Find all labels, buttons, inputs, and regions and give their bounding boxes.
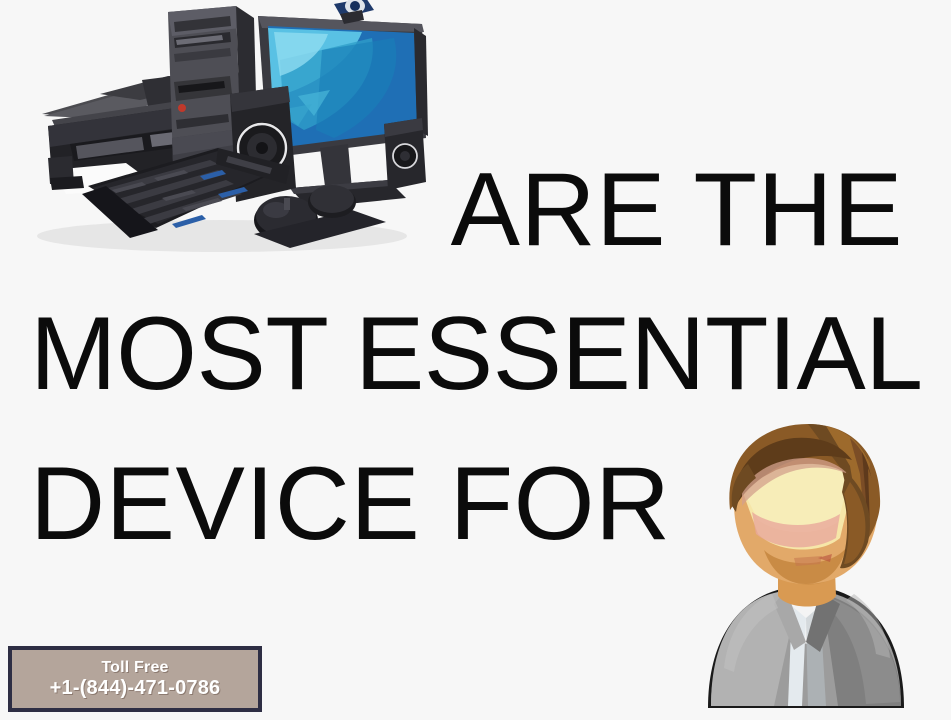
promo-slide: ARE THE MOST ESSENTIAL DEVICE FOR	[0, 0, 951, 720]
user-avatar-image	[690, 418, 922, 712]
toll-free-banner[interactable]: Toll Free +1-(844)-471-0786	[8, 646, 262, 712]
headline-line-1: ARE THE	[0, 158, 903, 262]
toll-free-label: Toll Free	[101, 659, 168, 677]
headline-line-2: MOST ESSENTIAL	[30, 302, 923, 406]
toll-free-phone-number[interactable]: +1-(844)-471-0786	[50, 677, 221, 699]
headline-line-3: DEVICE FOR	[30, 452, 671, 556]
